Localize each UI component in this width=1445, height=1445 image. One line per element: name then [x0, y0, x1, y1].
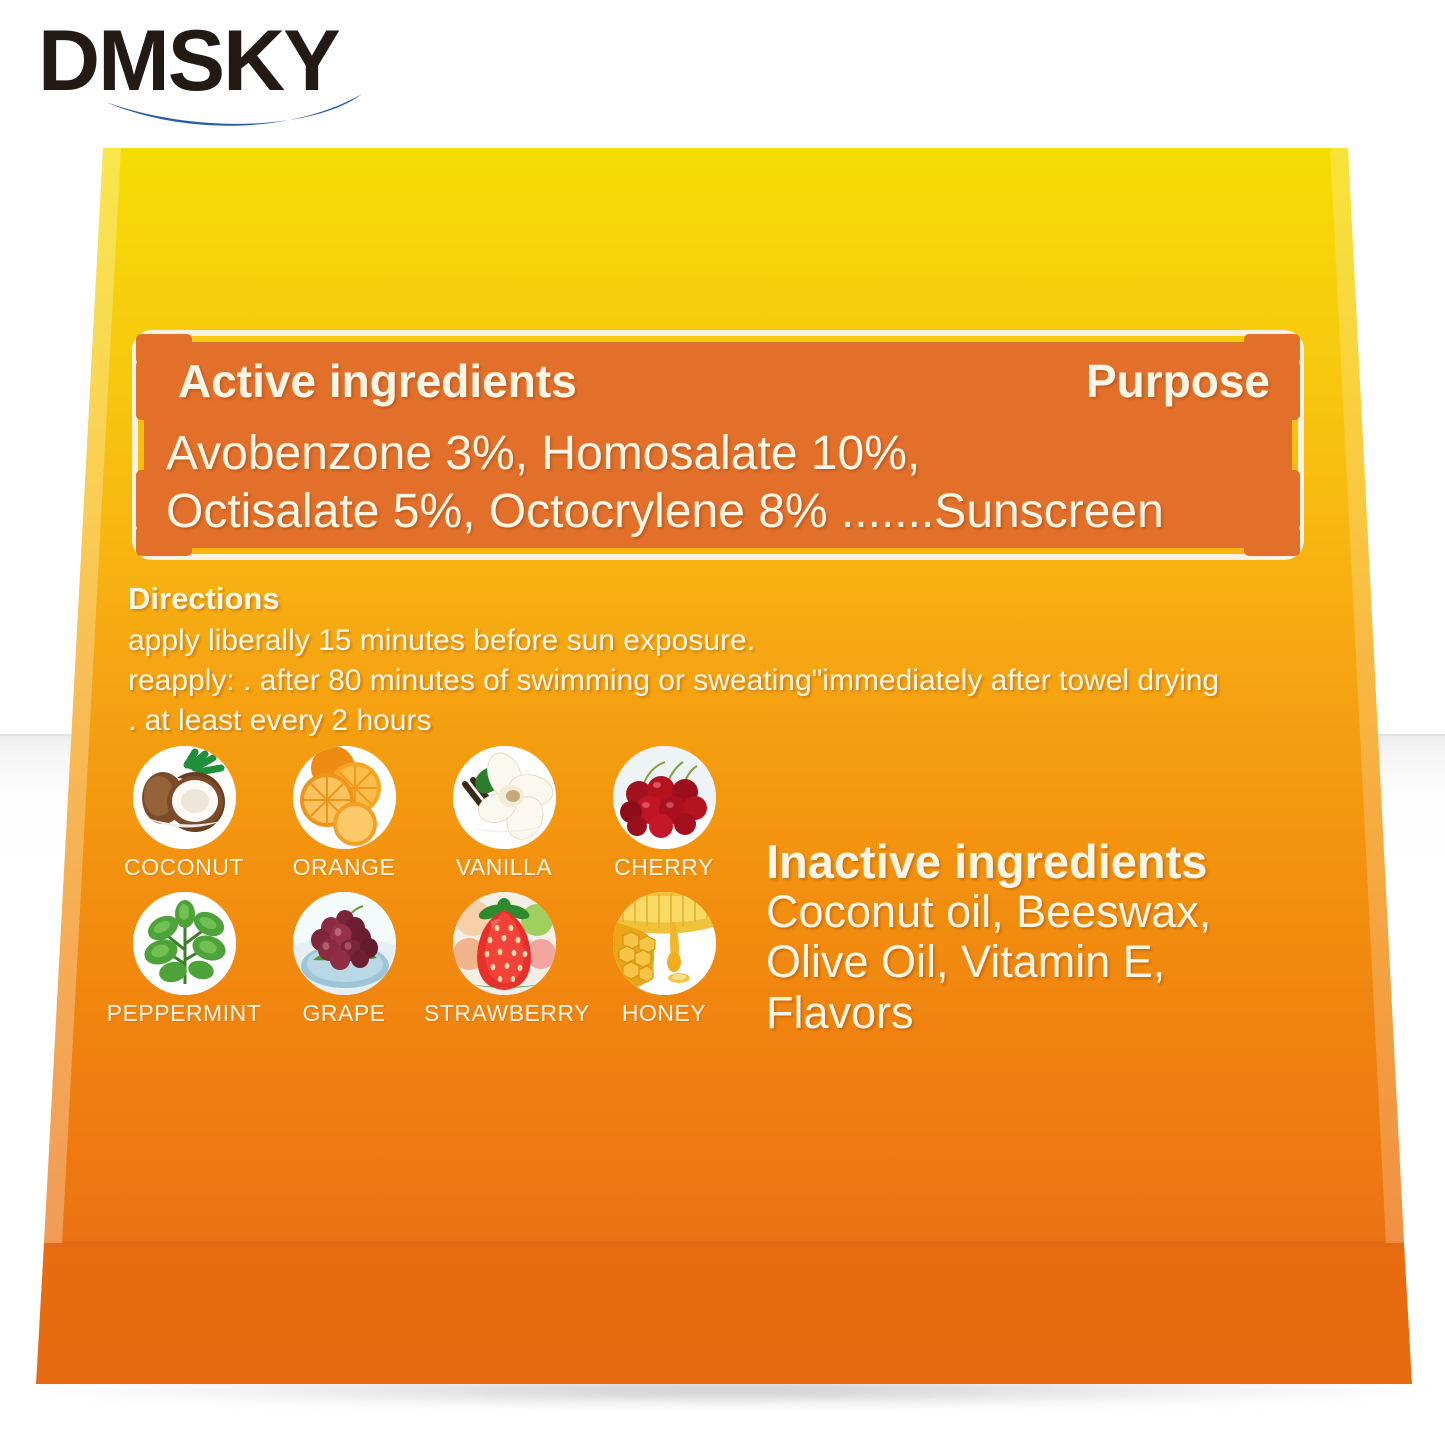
active-ingredients-line-2: Octisalate 5%, Octocrylene 8% .......Sun… — [166, 488, 1164, 536]
flavor-label: VANILLA — [424, 855, 584, 880]
flavor-item-coconut: COCONUT — [104, 746, 264, 880]
honey-icon — [613, 892, 716, 995]
cherry-icon — [613, 746, 716, 849]
coconut-icon — [133, 746, 236, 849]
active-ingredients-heading: Active ingredients — [178, 358, 577, 404]
grape-icon — [293, 892, 396, 995]
product-package-photo: DMSKY Active ingredients Purpose Avobenz… — [0, 0, 1445, 1445]
purpose-heading: Purpose — [1086, 358, 1270, 404]
flavor-label: GRAPE — [264, 1001, 424, 1026]
active-panel-text: Active ingredients Purpose Avobenzone 3%… — [144, 342, 1292, 548]
flavor-item-honey: HONEY — [584, 892, 744, 1026]
inactive-ingredients-heading: Inactive ingredients — [766, 838, 1326, 887]
flavor-icon-grid: COCONUT — [104, 746, 764, 1027]
flavor-item-vanilla: VANILLA — [424, 746, 584, 880]
flavor-row-1: COCONUT — [104, 746, 764, 880]
flavor-label: CHERRY — [584, 855, 744, 880]
active-ingredients-line-1: Avobenzone 3%, Homosalate 10%, — [166, 430, 920, 478]
flavor-label: PEPPERMINT — [104, 1001, 264, 1026]
strawberry-icon — [453, 892, 556, 995]
inactive-ingredients-line-3: Flavors — [766, 988, 1326, 1038]
flavor-label: COCONUT — [104, 855, 264, 880]
flavor-label: HONEY — [584, 1001, 744, 1026]
directions-section: Directions apply liberally 15 minutes be… — [128, 580, 1328, 740]
flavor-item-cherry: CHERRY — [584, 746, 744, 880]
orange-icon — [293, 746, 396, 849]
active-ingredients-panel: Active ingredients Purpose Avobenzone 3%… — [132, 330, 1304, 560]
flavor-item-peppermint: PEPPERMINT — [104, 892, 264, 1026]
directions-line-1: apply liberally 15 minutes before sun ex… — [128, 621, 1328, 661]
active-panel-heading-row: Active ingredients Purpose — [178, 358, 1270, 404]
directions-line-3: . at least every 2 hours — [128, 701, 1328, 741]
vanilla-icon — [453, 746, 556, 849]
inactive-ingredients-section: Inactive ingredients Coconut oil, Beeswa… — [766, 838, 1326, 1038]
flavor-item-grape: GRAPE — [264, 892, 424, 1026]
flavor-item-strawberry: STRAWBERRY — [424, 892, 584, 1026]
flavor-label: ORANGE — [264, 855, 424, 880]
peppermint-icon — [133, 892, 236, 995]
inactive-ingredients-line-1: Coconut oil, Beeswax, — [766, 887, 1326, 937]
flavor-item-orange: ORANGE — [264, 746, 424, 880]
directions-heading: Directions — [128, 580, 1328, 619]
flavor-label: STRAWBERRY — [424, 1001, 584, 1026]
directions-line-2: reapply: . after 80 minutes of swimming … — [128, 661, 1328, 701]
inactive-ingredients-line-2: Olive Oil, Vitamin E, — [766, 937, 1326, 987]
flavor-row-2: PEPPERMINT — [104, 892, 764, 1026]
